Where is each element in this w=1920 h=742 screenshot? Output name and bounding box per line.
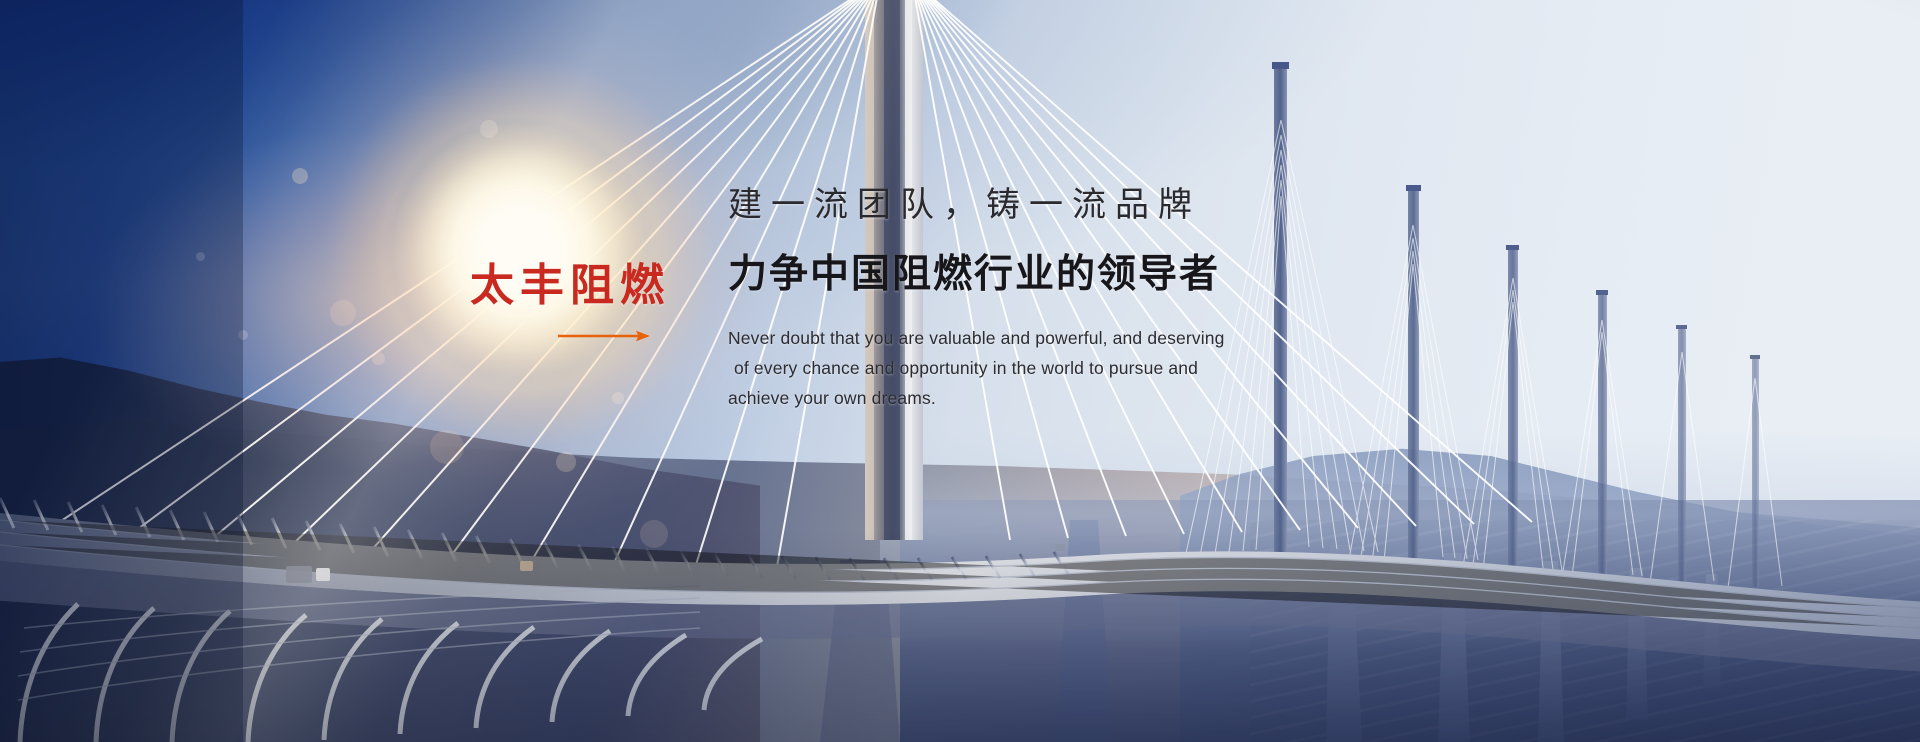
hero-subcopy-line-3: achieve your own dreams.: [728, 383, 1388, 413]
hero-banner: 太丰阻燃 建一流团队，铸一流品牌 力争中国阻燃行业的领导者 Never doub…: [0, 0, 1920, 742]
arrow-right-icon: [558, 330, 650, 342]
hero-headline-secondary: 力争中国阻燃行业的领导者: [728, 253, 1388, 297]
hero-headline-primary: 建一流团队，铸一流品牌: [728, 186, 1388, 225]
brand-logo-text: 太丰阻燃: [470, 264, 710, 308]
hero-copy: 建一流团队，铸一流品牌 力争中国阻燃行业的领导者 Never doubt tha…: [728, 186, 1388, 413]
hero-subcopy-line-2: of every chance and opportunity in the w…: [728, 353, 1388, 383]
hero-subcopy: Never doubt that you are valuable and po…: [728, 323, 1388, 413]
hero-subcopy-line-1: Never doubt that you are valuable and po…: [728, 323, 1388, 353]
hero-content: 太丰阻燃 建一流团队，铸一流品牌 力争中国阻燃行业的领导者 Never doub…: [0, 0, 1920, 742]
brand-logo[interactable]: 太丰阻燃: [470, 264, 710, 342]
